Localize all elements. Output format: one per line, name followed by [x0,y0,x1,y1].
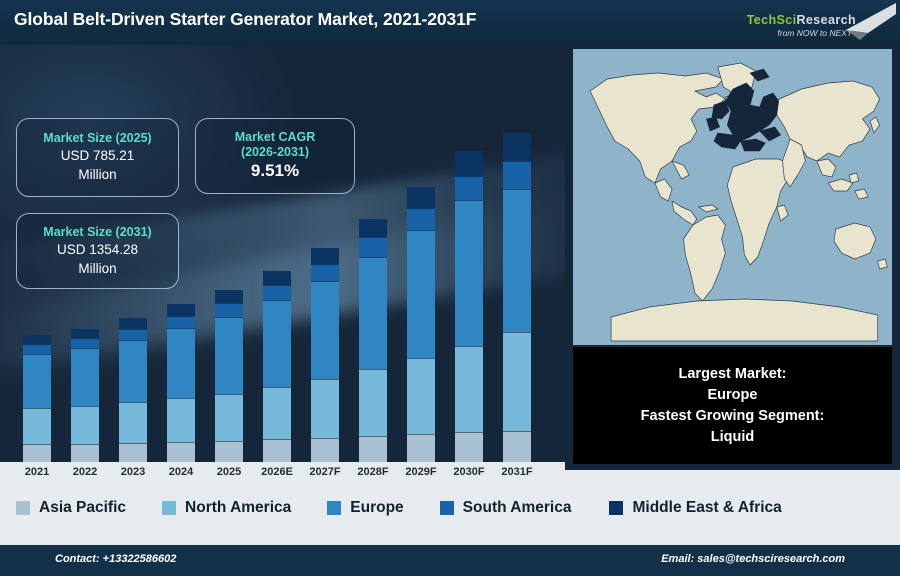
bar-segment-middle-east-africa [215,290,243,303]
bar-2026E [263,271,291,462]
bar-segment-south-america [119,329,147,340]
x-axis-tick-2028F: 2028F [349,466,397,478]
x-axis-tick-2024: 2024 [157,466,205,478]
largest-market-value: Europe [708,385,758,405]
bar-2027F [311,248,339,462]
bar-segment-south-america [311,264,339,281]
bar-segment-north-america [455,346,483,433]
bar-segment-north-america [71,406,99,444]
bar-segment-europe [71,348,99,405]
market-size-2025-box: Market Size (2025) USD 785.21 Million [16,118,179,197]
chart-panel: Market Size (2025) USD 785.21 Million Ma… [0,45,565,485]
bar-segment-europe [311,281,339,380]
legend-item-middle-east-africa[interactable]: Middle East & Africa [609,499,781,517]
market-size-2025-value: USD 785.21 [61,146,135,165]
legend-item-south-america[interactable]: South America [440,499,572,517]
bar-segment-north-america [407,358,435,434]
infographic-root: Global Belt-Driven Starter Generator Mar… [0,0,900,576]
market-size-2031-box: Market Size (2031) USD 1354.28 Million [16,213,179,289]
bar-segment-middle-east-africa [71,329,99,339]
legend-swatch-icon [16,501,30,515]
bar-segment-europe [263,300,291,387]
bar-segment-south-america [503,161,531,189]
bar-segment-south-america [167,316,195,328]
world-map-icon [573,49,892,345]
bar-segment-south-america [263,285,291,300]
bar-2022 [71,328,99,462]
market-cagr-label: Market CAGR [235,130,316,145]
fastest-segment-label: Fastest Growing Segment: [641,406,825,426]
bar-segment-north-america [215,394,243,441]
bar-segment-middle-east-africa [119,318,147,329]
bar-segment-asia-pacific [23,444,51,462]
bar-segment-south-america [455,176,483,201]
legend-label: North America [185,499,291,517]
logo-brand-tech: TechSci [747,13,797,27]
legend-label: South America [463,499,572,517]
bar-segment-asia-pacific [359,436,387,462]
bar-segment-north-america [119,402,147,442]
bar-segment-middle-east-africa [311,248,339,264]
market-size-2031-label: Market Size (2031) [43,225,151,240]
bar-segment-north-america [167,398,195,442]
legend-swatch-icon [162,501,176,515]
bar-2029F [407,187,435,462]
bar-segment-europe [359,257,387,370]
bar-segment-north-america [311,379,339,438]
bar-2025 [215,290,243,462]
x-axis-tick-2023: 2023 [109,466,157,478]
legend-label: Asia Pacific [39,499,126,517]
bar-segment-europe [407,230,435,358]
x-axis-labels: 202120222023202420252026E2027F2028F2029F… [0,462,565,485]
bar-segment-europe [167,328,195,398]
legend-swatch-icon [609,501,623,515]
bar-segment-south-america [359,237,387,256]
highlights-box: Largest Market: Europe Fastest Growing S… [573,347,892,464]
bar-2030F [455,151,483,462]
x-axis-tick-2030F: 2030F [445,466,493,478]
x-axis-tick-2026E: 2026E [253,466,301,478]
bar-segment-europe [23,354,51,408]
bar-segment-asia-pacific [263,439,291,462]
x-axis-tick-2025: 2025 [205,466,253,478]
x-axis-tick-2021: 2021 [13,466,61,478]
header-bar: Global Belt-Driven Starter Generator Mar… [0,0,900,45]
legend-label: Middle East & Africa [632,499,781,517]
bar-segment-asia-pacific [455,432,483,462]
bar-segment-south-america [23,344,51,353]
bar-segment-asia-pacific [407,434,435,462]
footer-contact: Contact: +13322586602 [55,553,176,565]
bar-segment-asia-pacific [215,441,243,462]
bar-segment-asia-pacific [167,442,195,462]
chart-legend: Asia PacificNorth AmericaEuropeSouth Ame… [0,485,900,531]
world-map [573,49,892,345]
x-axis-tick-2027F: 2027F [301,466,349,478]
bar-segment-south-america [71,338,99,348]
bar-segment-middle-east-africa [359,219,387,238]
bar-segment-europe [503,189,531,332]
bar-segment-middle-east-africa [23,335,51,344]
legend-swatch-icon [327,501,341,515]
logo-wordmark: TechSciResearch [747,13,856,27]
legend-label: Europe [350,499,403,517]
page-title: Global Belt-Driven Starter Generator Mar… [14,9,476,30]
footer-bar: Contact: +13322586602 Email: sales@techs… [0,545,900,576]
body-area: Market Size (2025) USD 785.21 Million Ma… [0,45,900,531]
market-size-2031-value: USD 1354.28 [57,240,138,259]
bar-2031F [503,133,531,462]
bar-segment-middle-east-africa [167,304,195,316]
bar-segment-asia-pacific [71,444,99,462]
x-axis-tick-2031F: 2031F [493,466,541,478]
market-size-2025-unit: Million [78,165,116,184]
x-axis-tick-2029F: 2029F [397,466,445,478]
bar-segment-asia-pacific [119,443,147,462]
highlights-panel: Largest Market: Europe Fastest Growing S… [565,345,900,470]
bar-2021 [23,335,51,462]
bar-segment-middle-east-africa [263,271,291,286]
bar-segment-middle-east-africa [503,133,531,161]
logo-brand-research: Research [797,13,857,27]
bar-2024 [167,304,195,462]
bar-segment-europe [119,340,147,403]
market-size-2031-unit: Million [78,259,116,278]
bar-segment-south-america [407,208,435,230]
bar-segment-asia-pacific [503,431,531,462]
bar-2028F [359,219,387,462]
fastest-segment-value: Liquid [711,427,755,447]
market-cagr-box: Market CAGR (2026-2031) 9.51% [195,118,355,194]
bar-segment-europe [215,317,243,394]
bar-segment-south-america [215,303,243,316]
bar-segment-north-america [23,408,51,444]
footer-email: Email: sales@techsciresearch.com [661,553,845,565]
techsci-research-logo: TechSciResearch from NOW to NEXT [710,0,900,45]
bar-segment-north-america [359,369,387,436]
bar-segment-middle-east-africa [455,151,483,175]
legend-item-europe[interactable]: Europe [327,499,403,517]
market-size-2025-label: Market Size (2025) [43,131,151,146]
world-map-panel [565,45,900,345]
legend-swatch-icon [440,501,454,515]
bar-segment-asia-pacific [311,438,339,462]
logo-tagline: from NOW to NEXT [777,28,852,38]
bar-segment-middle-east-africa [407,187,435,208]
bar-segment-europe [455,200,483,345]
bar-2023 [119,318,147,462]
bar-segment-north-america [263,387,291,439]
legend-item-asia-pacific[interactable]: Asia Pacific [16,499,126,517]
market-cagr-period: (2026-2031) [241,145,309,160]
market-cagr-value: 9.51% [251,160,299,182]
largest-market-label: Largest Market: [679,364,787,384]
x-axis-tick-2022: 2022 [61,466,109,478]
legend-item-north-america[interactable]: North America [162,499,291,517]
bar-segment-north-america [503,332,531,431]
